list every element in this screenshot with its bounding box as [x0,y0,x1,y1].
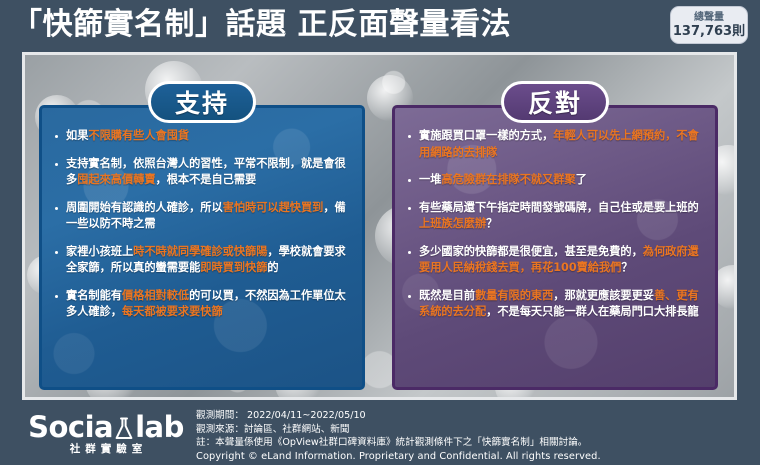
observation-source: 觀測來源：討論區、社群網站、新聞 [196,423,752,437]
list-item: 實施跟買口罩一樣的方式，年輕人可以先上網預約，不會用網路的去排隊 [406,128,704,161]
list-item: 有些藥局還下午指定時間發號碼牌，自己住或是要上班的上班族怎麼辦？ [406,200,704,233]
oppose-bullet-list: 實施跟買口罩一樣的方式，年輕人可以先上網預約，不會用網路的去排隊一堆高危險群在排… [406,128,704,321]
copyright-text: Copyright © eLand Information. Proprieta… [196,450,752,464]
list-item: 實名制能有價格相對較低的可以買，不然因為工作單位太多人確診，每天都被要求要快篩 [53,288,351,321]
list-item: 多少國家的快篩都是很便宜，甚至是免費的，為何政府還要用人民納稅錢去買，再花100… [406,244,704,277]
observation-period: 觀測期間： 2022/04/11~2022/05/10 [196,409,752,423]
panels-container: 如果不限購有些人會囤貨支持實名制，依照台灣人的習性，平常不限制，就是會很多囤起來… [25,55,734,397]
plain-text: 了 [576,173,587,186]
plain-text: 家裡小孩班上 [66,245,133,258]
plain-text: ，那就更應該要更妥 [553,289,654,302]
total-volume-value: 137,763則 [673,24,745,39]
logo-word-right: lab [135,412,184,442]
plain-text: ？ [621,261,632,274]
highlighted-text: 價格相對較低 [122,289,189,302]
list-item: 既然是目前數量有限的東西，那就更應該要更妥善、更有系統的去分配，不是每天只能一群… [406,288,704,321]
header: 「快篩實名制」話題 正反面聲量看法 總聲量 137,763則 [0,0,760,50]
plain-text: 的 [267,261,278,274]
plain-text: 實名制能有 [66,289,122,302]
plain-text: 有些藥局還下午指定時間發號碼牌，自己住或是要上班的 [419,201,699,214]
total-volume-label: 總聲量 [694,12,724,24]
content-board: 如果不限購有些人會囤貨支持實名制，依照台灣人的習性，平常不限制，就是會很多囤起來… [22,52,737,400]
plain-text: 如果 [66,129,88,142]
plain-text: ，不是每天只能一群人在藥局門口大排長龍 [486,305,699,318]
highlighted-text: 高危險群在排隊不就又群聚 [441,173,575,186]
infographic-root: 「快篩實名制」話題 正反面聲量看法 總聲量 137,763則 如果不限購有些人會… [0,0,760,465]
observation-note: 註：本聲量係使用《OpView社群口碑資料庫》統計觀測條件下之「快篩實名制」相關… [196,436,752,450]
highlighted-text: 上班族怎麼辦 [419,217,486,230]
plain-text: 一堆 [419,173,441,186]
flask-icon [114,416,134,440]
highlighted-text: 囤起來高價轉賣 [77,173,155,186]
plain-text: ？ [486,217,497,230]
logo-wordmark: S ocia lab [26,412,186,442]
plain-text: ，根本不是自己需要 [156,173,257,186]
plain-text: 既然是目前 [419,289,475,302]
plain-text: 多少國家的快篩都是很便宜，甚至是免費的， [419,245,643,258]
highlighted-text: 即時買到快篩 [200,261,267,274]
logo-word-mid: ocia [48,412,113,442]
list-item: 一堆高危險群在排隊不就又群聚了 [406,172,704,189]
highlighted-text: 害怕時可以趕快買到 [223,201,324,214]
highlighted-text: 不限購有些人會囤貨 [88,129,189,142]
highlighted-text: 數量有限的東西 [475,289,553,302]
logo-word-left: S [28,412,48,442]
support-pill-label: 支持 [148,81,256,123]
footer-meta: 觀測期間： 2022/04/11~2022/05/10 觀測來源：討論區、社群網… [196,409,752,463]
sociallab-logo: S ocia lab 社群實驗室 [26,412,186,456]
list-item: 周圍開始有認識的人確診，所以害怕時可以趕快買到，備一些以防不時之需 [53,200,351,233]
plain-text: 周圍開始有認識的人確診，所以 [66,201,223,214]
list-item: 支持實名制，依照台灣人的習性，平常不限制，就是會很多囤起來高價轉賣，根本不是自己… [53,156,351,189]
list-item: 家裡小孩班上時不時就同學確診或快篩陽，學校就會要求全家篩，所以真的蠻需要能即時買… [53,244,351,277]
footer: S ocia lab 社群實驗室 觀測期間： 2022/04/11~2022/0… [0,404,760,465]
oppose-panel: 實施跟買口罩一樣的方式，年輕人可以先上網預約，不會用網路的去排隊一堆高危險群在排… [392,105,718,390]
highlighted-text: 每天都被要求要快篩 [122,305,223,318]
plain-text: 實施跟買口罩一樣的方式， [419,129,553,142]
list-item: 如果不限購有些人會囤貨 [53,128,351,145]
oppose-pill-label: 反對 [501,81,609,123]
support-panel: 如果不限購有些人會囤貨支持實名制，依照台灣人的習性，平常不限制，就是會很多囤起來… [39,105,365,390]
highlighted-text: 時不時就同學確診或快篩陽 [133,245,267,258]
page-title: 「快篩實名制」話題 正反面聲量看法 [12,0,664,50]
total-volume-badge: 總聲量 137,763則 [670,6,748,44]
logo-subtitle: 社群實驗室 [26,442,186,456]
support-bullet-list: 如果不限購有些人會囤貨支持實名制，依照台灣人的習性，平常不限制，就是會很多囤起來… [53,128,351,321]
